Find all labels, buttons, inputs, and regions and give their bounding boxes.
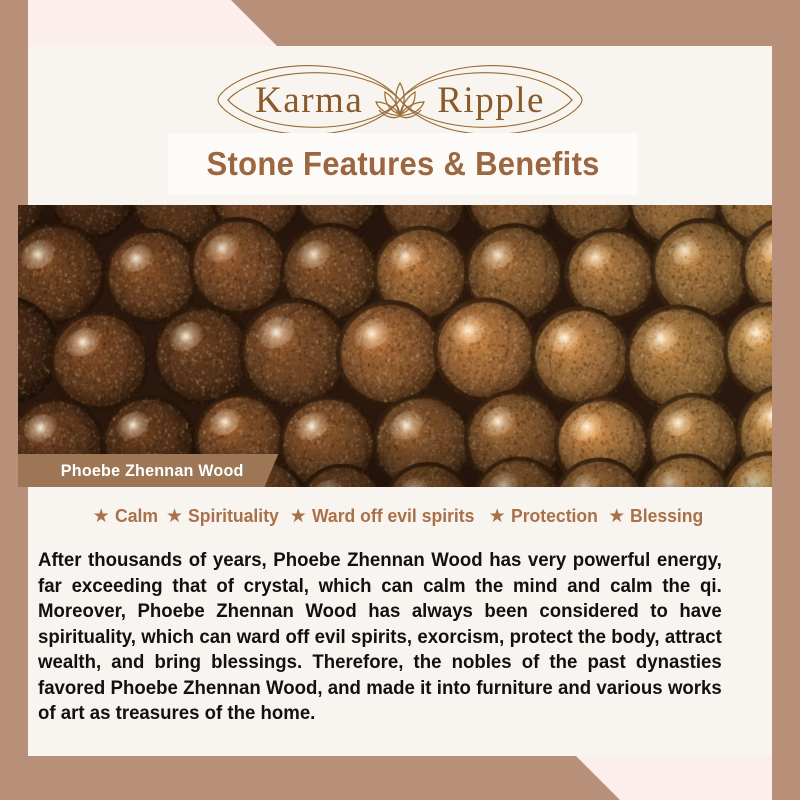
star-icon: ★ <box>608 507 625 526</box>
star-icon: ★ <box>166 507 183 526</box>
bead-photo <box>18 205 772 487</box>
feature-list: ★Calm★Spirituality★Ward off evil spirits… <box>38 505 762 527</box>
lotus-icon <box>373 78 427 122</box>
feature-label: Protection <box>511 505 598 527</box>
hero-caption-label: Phoebe Zhennan Wood <box>61 461 244 481</box>
hero-image: Phoebe Zhennan Wood <box>18 205 772 487</box>
content-card: Karma Ripple Stone Features & Benefits <box>28 46 772 756</box>
feature-item: ★Ward off evil spirits <box>290 505 483 527</box>
hero-caption-banner: Phoebe Zhennan Wood <box>18 454 278 487</box>
bottom-left-diagonal-decoration <box>0 752 800 800</box>
star-icon: ★ <box>93 507 110 526</box>
brand-word-left: Karma <box>255 82 363 119</box>
feature-item: ★Calm <box>93 505 160 527</box>
brand-word-right: Ripple <box>437 82 545 119</box>
star-icon: ★ <box>489 507 506 526</box>
feature-item: ★Blessing <box>608 505 707 527</box>
title-band: Stone Features & Benefits <box>168 133 638 195</box>
brand-lockup: Karma Ripple <box>190 55 610 145</box>
feature-item: ★Protection <box>489 505 603 527</box>
top-right-diagonal-decoration <box>0 0 800 46</box>
feature-label: Blessing <box>630 505 703 527</box>
page-title: Stone Features & Benefits <box>206 145 599 183</box>
feature-label: Ward off evil spirits <box>312 505 474 527</box>
feature-label: Calm <box>115 505 158 527</box>
star-icon: ★ <box>290 507 307 526</box>
feature-label: Spirituality <box>188 505 279 527</box>
body-paragraph: After thousands of years, Phoebe Zhennan… <box>38 548 722 727</box>
promo-graphic: Karma Ripple Stone Features & Benefits <box>0 0 800 800</box>
right-edge-decoration <box>772 0 800 800</box>
feature-item: ★Spirituality <box>166 505 284 527</box>
